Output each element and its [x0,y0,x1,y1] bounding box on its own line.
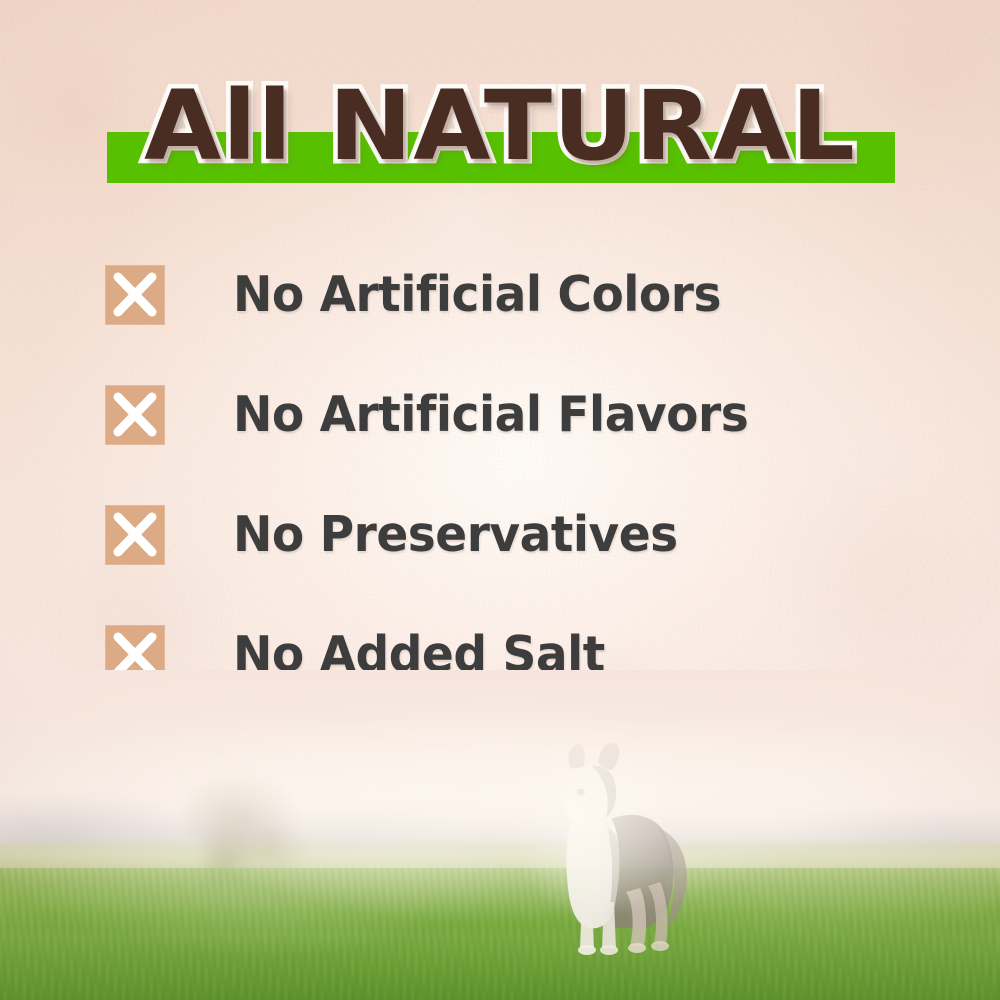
x-mark-icon [105,385,165,445]
dog-photo-subject [530,732,710,964]
headline-block: All NATURAL [0,72,1000,197]
page-title: All NATURAL [0,72,1000,180]
grass-blade-texture [0,868,1000,1000]
list-item: No Artificial Flavors [105,378,935,498]
checkbox-preservatives [105,505,165,565]
benefits-checklist: No Artificial Colors No Artificial Flavo… [105,258,935,738]
list-item-label: No Artificial Flavors [233,378,748,452]
list-item-label: No Artificial Colors [233,258,721,332]
list-item: No Artificial Colors [105,258,935,378]
list-item-label: No Preservatives [233,498,678,572]
all-natural-poster: All NATURAL No Artificial Colors No Arti… [0,0,1000,1000]
border-collie-illustration [530,732,710,964]
list-item: No Preservatives [105,498,935,618]
x-mark-icon [105,505,165,565]
checkbox-flavors [105,385,165,445]
lifestyle-photo [0,670,1000,1000]
checkbox-colors [105,265,165,325]
x-mark-icon [105,265,165,325]
